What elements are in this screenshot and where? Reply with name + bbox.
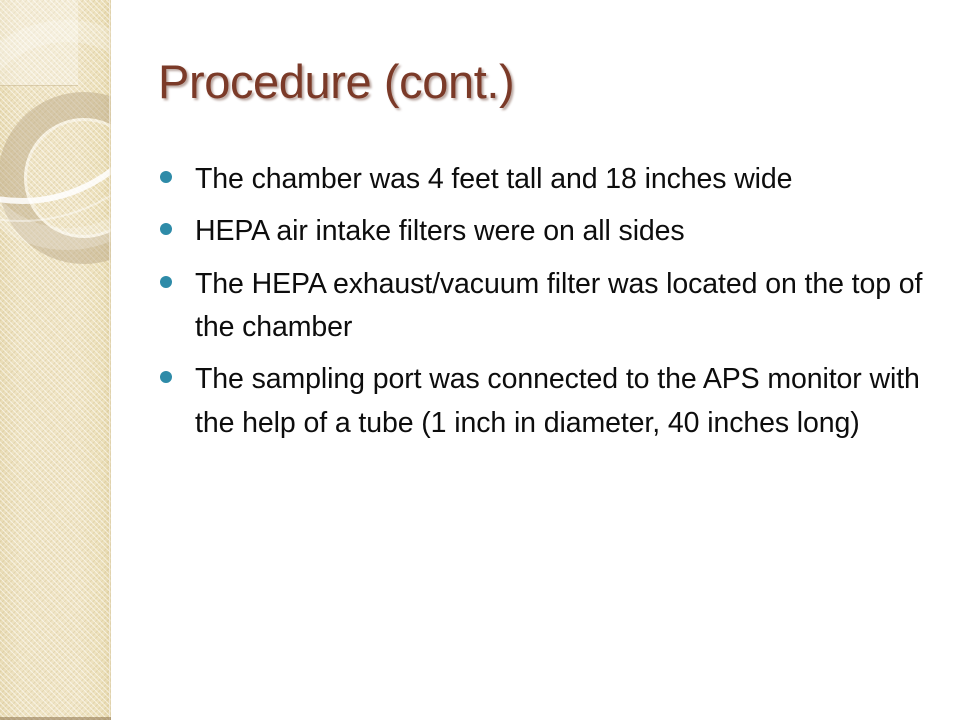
presentation-slide: Procedure (cont.) The chamber was 4 feet…: [0, 0, 960, 720]
sidebar-large-arc-outline-icon: [0, 0, 111, 222]
bullet-point-icon: [160, 276, 172, 288]
bullet-item-text: The sampling port was connected to the A…: [195, 358, 940, 445]
bullet-list-item: The sampling port was connected to the A…: [160, 358, 940, 445]
sidebar-right-edge: [109, 0, 111, 720]
slide-body-content: The chamber was 4 feet tall and 18 inche…: [160, 158, 940, 454]
bullet-list-item: The HEPA exhaust/vacuum filter was locat…: [160, 263, 940, 350]
bullet-item-text: HEPA air intake filters were on all side…: [195, 210, 940, 253]
slide-sidebar-decoration: [0, 0, 111, 720]
bullet-point-icon: [160, 223, 172, 235]
bullet-item-text: The chamber was 4 feet tall and 18 inche…: [195, 158, 940, 201]
slide-title: Procedure (cont.): [158, 54, 514, 109]
bullet-item-text: The HEPA exhaust/vacuum filter was locat…: [195, 263, 940, 350]
bullet-list-item: HEPA air intake filters were on all side…: [160, 210, 940, 253]
bullet-list-item: The chamber was 4 feet tall and 18 inche…: [160, 158, 940, 201]
bullet-point-icon: [160, 171, 172, 183]
bullet-point-icon: [160, 371, 172, 383]
